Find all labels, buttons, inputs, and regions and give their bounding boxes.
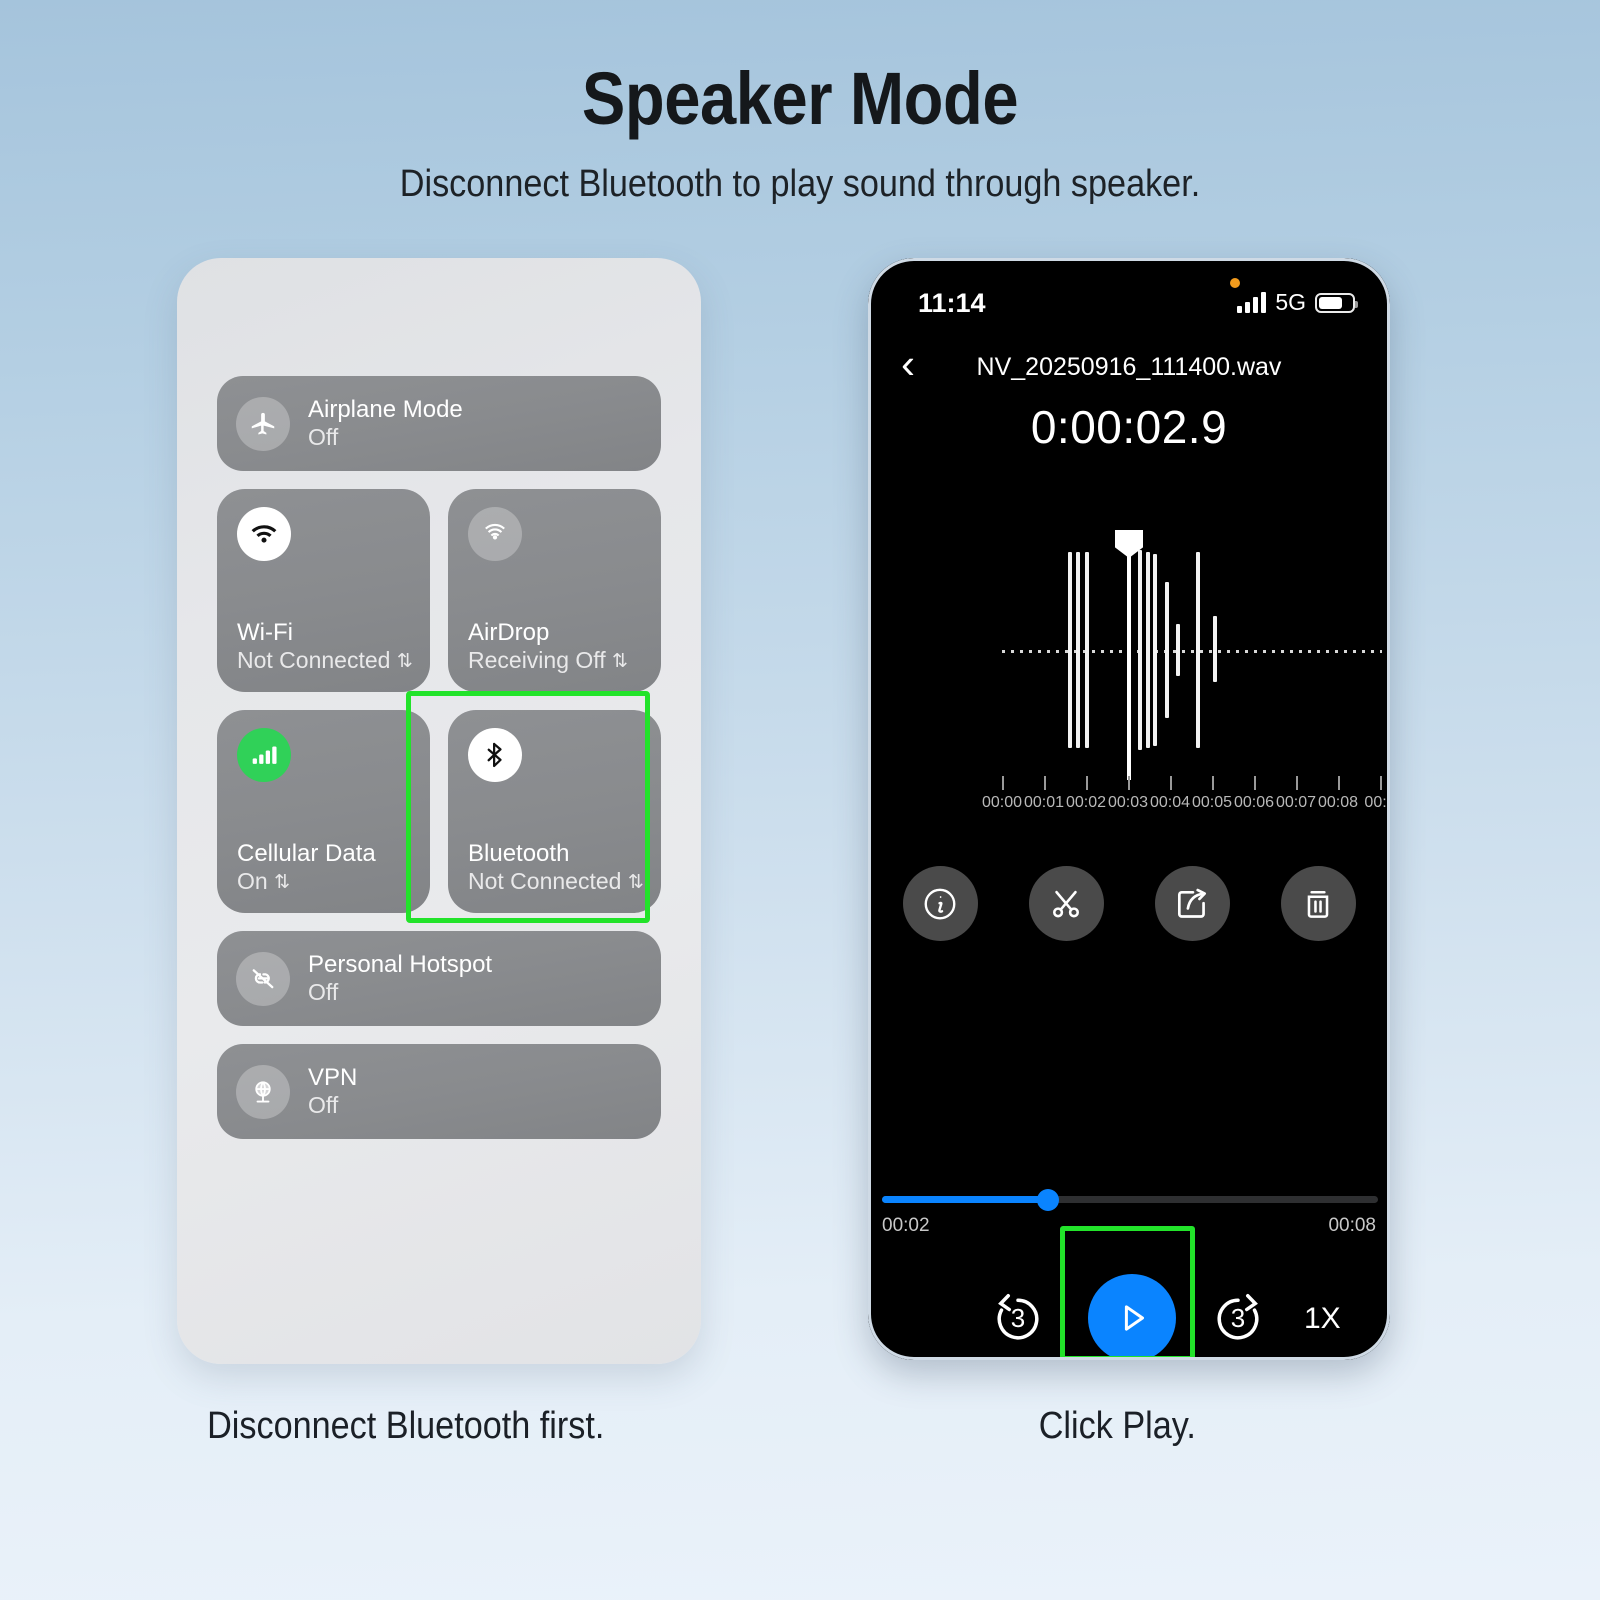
seek-thumb[interactable] <box>1037 1189 1059 1211</box>
rewind-3s-button[interactable]: 3 <box>988 1288 1048 1348</box>
tile-status: Off <box>308 1092 357 1120</box>
forward-3s-button[interactable]: 3 <box>1208 1288 1268 1348</box>
tile-status: Receiving Off ⇅ <box>468 647 628 675</box>
total-time-label: 00:08 <box>1328 1215 1376 1237</box>
tile-title: AirDrop <box>468 619 628 647</box>
timeline-labels: 00:00 00:01 00:02 00:03 00:04 00:05 00:0… <box>868 794 1390 820</box>
tile-cellular-data[interactable]: Cellular Data On ⇅ <box>217 710 430 913</box>
hotspot-off-icon <box>236 952 290 1006</box>
chevron-updown-icon[interactable]: ⇅ <box>274 872 290 895</box>
airdrop-icon <box>468 507 522 561</box>
tile-status: Not Connected ⇅ <box>237 647 413 675</box>
tile-title: Wi-Fi <box>237 619 413 647</box>
waveform-display[interactable] <box>868 520 1390 780</box>
control-center-panel: Airplane Mode Off Wi-Fi Not Connected ⇅ <box>177 258 701 1364</box>
recording-filename: NV_20250916_111400.wav <box>868 353 1390 382</box>
info-button[interactable] <box>903 866 978 941</box>
timeline-label: 00:08 <box>1318 794 1358 812</box>
waveform-bar <box>1076 552 1080 748</box>
waveform-bar <box>1165 582 1169 718</box>
waveform-baseline <box>1002 650 1382 653</box>
tile-wifi[interactable]: Wi-Fi Not Connected ⇅ <box>217 489 430 692</box>
elapsed-time-display: 0:00:02.9 <box>868 400 1390 454</box>
rewind-seconds-label: 3 <box>988 1288 1048 1348</box>
timeline-label: 00:00 <box>982 794 1022 812</box>
page-title: Speaker Mode <box>96 56 1504 141</box>
forward-seconds-label: 3 <box>1208 1288 1268 1348</box>
tile-status: On ⇅ <box>237 868 376 896</box>
tile-labels: Airplane Mode Off <box>308 396 463 451</box>
timeline-label: 00:01 <box>1024 794 1064 812</box>
tile-labels: Wi-Fi Not Connected ⇅ <box>237 619 413 675</box>
tile-labels: VPN Off <box>308 1064 357 1119</box>
tile-status: Off <box>308 424 463 452</box>
status-bar-clock: 11:14 <box>918 288 986 319</box>
timeline-label: 00:05 <box>1192 794 1232 812</box>
signal-bars-icon <box>1237 292 1266 313</box>
tile-labels: Cellular Data On ⇅ <box>237 840 376 896</box>
wifi-icon <box>237 507 291 561</box>
chevron-updown-icon[interactable]: ⇅ <box>612 651 628 674</box>
playback-speed-button[interactable]: 1X <box>1304 1302 1341 1336</box>
tile-vpn[interactable]: VPN Off <box>217 1044 661 1139</box>
tile-title: Cellular Data <box>237 840 376 868</box>
waveform-bar <box>1213 616 1217 682</box>
recorder-nav-bar: ‹ NV_20250916_111400.wav <box>868 336 1390 398</box>
page-header: Speaker Mode Disconnect Bluetooth to pla… <box>0 0 1600 206</box>
tile-labels: AirDrop Receiving Off ⇅ <box>468 619 628 675</box>
timeline-label: 00:07 <box>1276 794 1316 812</box>
tile-airdrop[interactable]: AirDrop Receiving Off ⇅ <box>448 489 661 692</box>
highlight-box-bluetooth <box>406 691 650 923</box>
trim-button[interactable] <box>1029 866 1104 941</box>
tile-personal-hotspot[interactable]: Personal Hotspot Off <box>217 931 661 1026</box>
seek-track[interactable] <box>882 1196 1378 1203</box>
action-button-row <box>868 866 1390 941</box>
timeline-label: 00:04 <box>1150 794 1190 812</box>
tile-title: Personal Hotspot <box>308 951 492 979</box>
current-time-label: 00:02 <box>882 1215 930 1237</box>
waveform-bar <box>1196 552 1200 748</box>
playhead-line[interactable] <box>1127 538 1131 780</box>
timeline-label: 00:03 <box>1108 794 1148 812</box>
caption-right: Click Play. <box>1039 1405 1196 1448</box>
timeline-label: 00:02 <box>1066 794 1106 812</box>
status-bar: 11:14 5G <box>868 280 1390 326</box>
delete-button[interactable] <box>1281 866 1356 941</box>
waveform-bar <box>1176 624 1180 676</box>
share-button[interactable] <box>1155 866 1230 941</box>
vpn-globe-icon <box>236 1065 290 1119</box>
timeline-label: 00:06 <box>1234 794 1274 812</box>
page-subtitle: Disconnect Bluetooth to play sound throu… <box>80 163 1520 206</box>
tile-status: Off <box>308 979 492 1007</box>
battery-icon <box>1315 293 1355 313</box>
timeline-label: 00:0 <box>1364 794 1390 812</box>
tile-airplane-mode[interactable]: Airplane Mode Off <box>217 376 661 471</box>
waveform-bar <box>1068 552 1072 748</box>
waveform-bar <box>1146 552 1150 748</box>
recorder-phone-screen: 11:14 5G ‹ NV_20250916_111400.wav 0:00:0… <box>868 258 1390 1360</box>
caption-left: Disconnect Bluetooth first. <box>207 1405 604 1448</box>
tile-title: VPN <box>308 1064 357 1092</box>
tile-title: Airplane Mode <box>308 396 463 424</box>
waveform-bar <box>1085 552 1089 748</box>
network-type-label: 5G <box>1275 289 1306 316</box>
highlight-box-play <box>1060 1226 1195 1360</box>
tile-row-wifi-airdrop: Wi-Fi Not Connected ⇅ AirDrop Receiving … <box>217 489 661 692</box>
seek-progress-fill <box>882 1196 1053 1203</box>
status-bar-indicators: 5G <box>1237 289 1355 316</box>
chevron-updown-icon[interactable]: ⇅ <box>397 651 413 674</box>
airplane-icon <box>236 397 290 451</box>
tile-labels: Personal Hotspot Off <box>308 951 492 1006</box>
privacy-indicator-dot <box>1230 278 1240 288</box>
cellular-bars-icon <box>237 728 291 782</box>
waveform-bar <box>1138 550 1142 750</box>
waveform-bar <box>1153 554 1157 746</box>
